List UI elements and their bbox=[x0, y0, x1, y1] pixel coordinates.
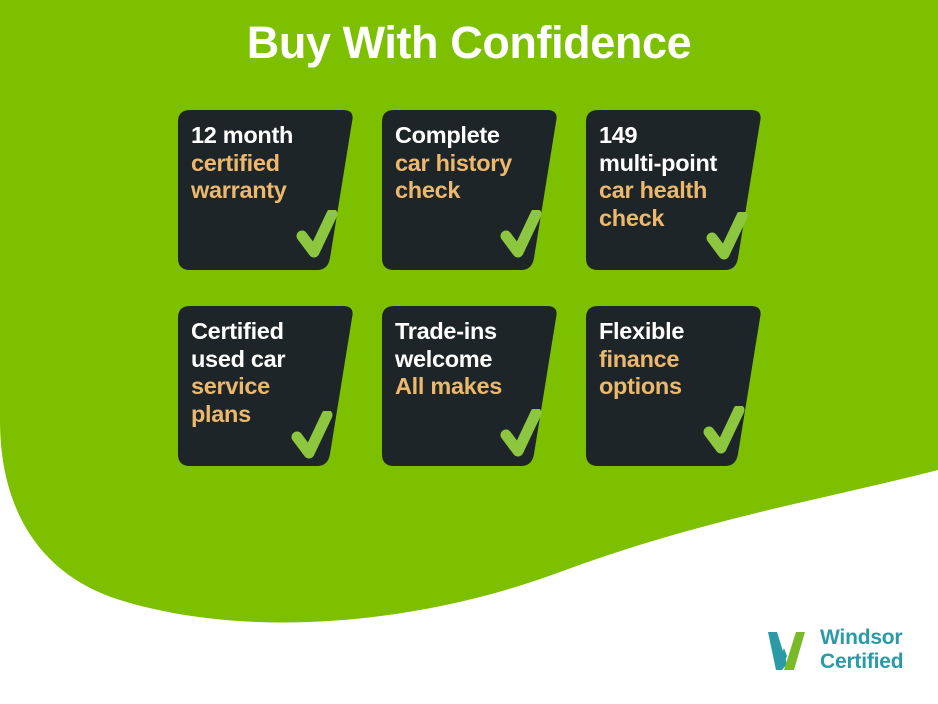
benefit-card-row-2: Certified used car service plans Trade-i… bbox=[178, 306, 778, 466]
windsor-w-logo-icon bbox=[763, 628, 811, 672]
check-mark-icon bbox=[500, 210, 544, 262]
card-line: car health bbox=[599, 177, 745, 205]
card-line: 12 month bbox=[191, 122, 337, 150]
logo-wordmark: Windsor Certified bbox=[820, 626, 903, 673]
card-text-block: Complete car history check bbox=[395, 122, 541, 205]
benefit-card-flexible-finance-options[interactable]: Flexible finance options bbox=[586, 306, 763, 466]
check-mark-icon bbox=[296, 210, 340, 262]
card-text-block: Trade-ins welcome All makes bbox=[395, 318, 541, 401]
card-line: 149 bbox=[599, 122, 745, 150]
benefit-card-grid: 12 month certified warranty Complete car… bbox=[178, 110, 778, 502]
card-text-block: 12 month certified warranty bbox=[191, 122, 337, 205]
page-title: Buy With Confidence bbox=[0, 18, 938, 68]
card-line: Flexible bbox=[599, 318, 745, 346]
card-line: car history bbox=[395, 150, 541, 178]
logo-wordmark-line2: Certified bbox=[820, 650, 903, 674]
card-line: welcome bbox=[395, 346, 541, 374]
check-mark-icon bbox=[500, 409, 544, 461]
benefit-card-149-multi-point-car-health-check[interactable]: 149 multi-point car health check bbox=[586, 110, 763, 270]
card-line: Certified bbox=[191, 318, 337, 346]
card-line: multi-point bbox=[599, 150, 745, 178]
card-line: Trade-ins bbox=[395, 318, 541, 346]
check-mark-icon bbox=[706, 212, 750, 264]
card-line: certified bbox=[191, 150, 337, 178]
card-line: All makes bbox=[395, 373, 541, 401]
card-line: check bbox=[395, 177, 541, 205]
card-line: warranty bbox=[191, 177, 337, 205]
card-line: Complete bbox=[395, 122, 541, 150]
benefit-card-complete-car-history-check[interactable]: Complete car history check bbox=[382, 110, 559, 270]
card-line: used car bbox=[191, 346, 337, 374]
logo-wordmark-line1: Windsor bbox=[820, 626, 903, 650]
card-line: service bbox=[191, 373, 337, 401]
card-line: finance bbox=[599, 346, 745, 374]
benefit-card-12-month-certified-warranty[interactable]: 12 month certified warranty bbox=[178, 110, 355, 270]
card-line: options bbox=[599, 373, 745, 401]
check-mark-icon bbox=[291, 411, 335, 463]
windsor-certified-logo[interactable]: Windsor Certified bbox=[763, 626, 903, 673]
benefit-card-row-1: 12 month certified warranty Complete car… bbox=[178, 110, 778, 270]
check-mark-icon bbox=[703, 406, 747, 458]
card-text-block: Flexible finance options bbox=[599, 318, 745, 401]
poster-canvas: Buy With Confidence 12 month certified w… bbox=[0, 0, 938, 704]
benefit-card-trade-ins-welcome-all-makes[interactable]: Trade-ins welcome All makes bbox=[382, 306, 559, 466]
benefit-card-certified-used-car-service-plans[interactable]: Certified used car service plans bbox=[178, 306, 355, 466]
